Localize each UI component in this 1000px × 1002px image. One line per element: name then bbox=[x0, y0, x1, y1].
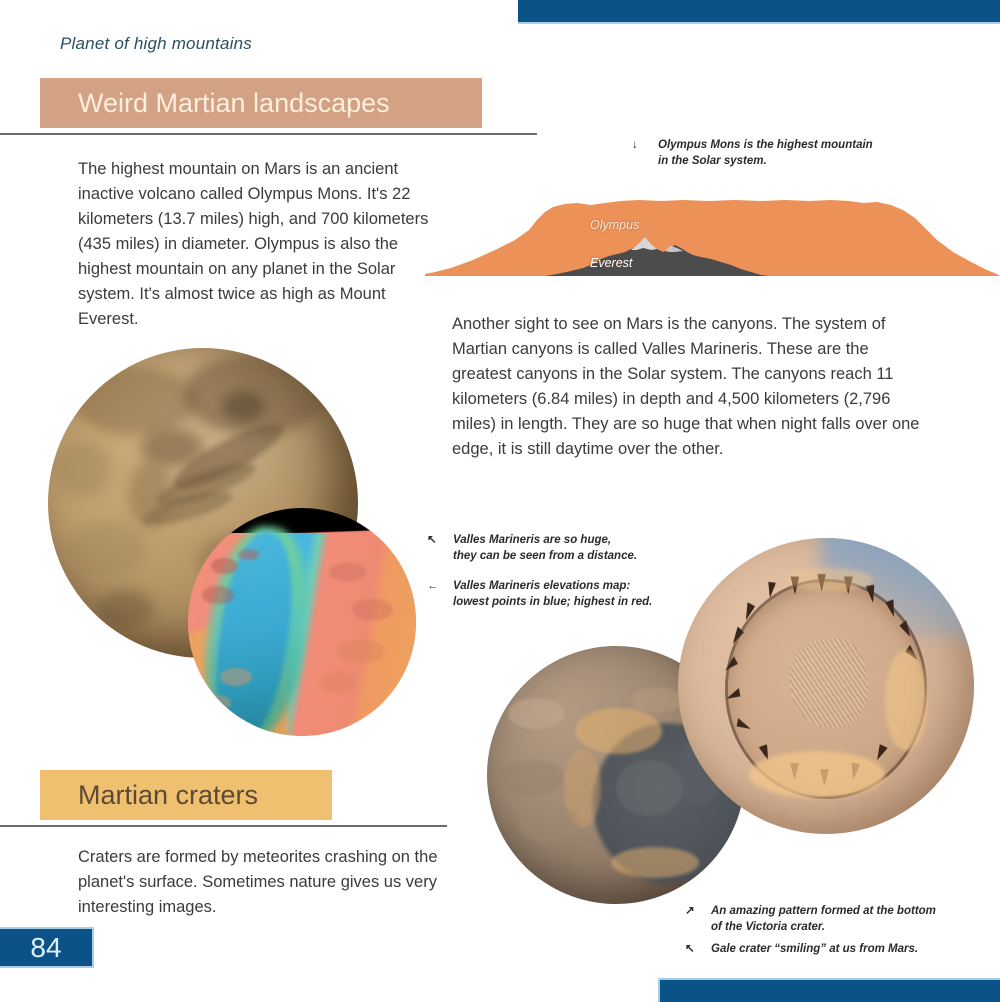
caption-vm-map-line2: lowest points in blue; highest in red. bbox=[440, 594, 670, 610]
page-number-badge: 84 bbox=[0, 927, 94, 968]
caption-olympus-line2: in the Solar system. bbox=[645, 153, 945, 169]
arrow-up-left-icon-2: ↖ bbox=[698, 941, 711, 957]
caption-gale-crater: ↖Gale crater “smiling” at us from Mars. bbox=[698, 941, 998, 957]
section-header-landscapes: Weird Martian landscapes bbox=[0, 78, 560, 140]
running-head: Planet of high mountains bbox=[60, 34, 252, 54]
caption-valles-marineris-map: ←Valles Marineris elevations map: lowest… bbox=[440, 578, 670, 610]
section-header-craters: Martian craters bbox=[0, 770, 470, 832]
paragraph-canyons: Another sight to see on Mars is the cany… bbox=[452, 312, 932, 462]
figure-olympus-profile: Olympus Everest bbox=[425, 186, 1000, 278]
section-band-landscapes: Weird Martian landscapes bbox=[40, 78, 482, 128]
section-title-craters: Martian craters bbox=[40, 780, 258, 811]
section-rule-craters bbox=[0, 825, 447, 827]
caption-vm-map-line1: Valles Marineris elevations map: bbox=[453, 580, 630, 592]
caption-valles-marineris-photo: ↖Valles Marineris are so huge, they can … bbox=[440, 532, 670, 564]
page-canvas: Planet of high mountains Weird Martian l… bbox=[0, 0, 1000, 1000]
arrow-left-icon: ← bbox=[440, 578, 453, 594]
section-band-craters: Martian craters bbox=[40, 770, 332, 820]
section-rule-landscapes bbox=[0, 133, 537, 135]
paragraph-craters: Craters are formed by meteorites crashin… bbox=[78, 845, 438, 920]
paragraph-olympus: The highest mountain on Mars is an ancie… bbox=[78, 157, 430, 332]
caption-victoria-line1: An amazing pattern formed at the bottom bbox=[711, 905, 936, 917]
olympus-profile-svg bbox=[425, 186, 1000, 278]
caption-vm-photo-line2: they can be seen from a distance. bbox=[440, 548, 670, 564]
image-valles-marineris-elevation-map bbox=[188, 508, 416, 736]
caption-olympus: ↓Olympus Mons is the highest mountain in… bbox=[645, 137, 945, 169]
arrow-up-right-icon: ↗ bbox=[698, 903, 711, 919]
decorative-bar-top bbox=[518, 0, 1000, 24]
caption-victoria-crater: ↗An amazing pattern formed at the bottom… bbox=[698, 903, 998, 935]
section-title-landscapes: Weird Martian landscapes bbox=[40, 88, 390, 119]
decorative-bar-bottom bbox=[658, 978, 1000, 1002]
caption-vm-photo-line1: Valles Marineris are so huge, bbox=[453, 534, 611, 546]
caption-olympus-line1: Olympus Mons is the highest mountain bbox=[658, 139, 873, 151]
arrow-down-icon: ↓ bbox=[645, 137, 658, 153]
arrow-up-left-icon: ↖ bbox=[440, 532, 453, 548]
caption-victoria-line2: of the Victoria crater. bbox=[698, 919, 998, 935]
caption-gale-line1: Gale crater “smiling” at us from Mars. bbox=[711, 943, 918, 955]
image-victoria-crater bbox=[678, 538, 974, 834]
